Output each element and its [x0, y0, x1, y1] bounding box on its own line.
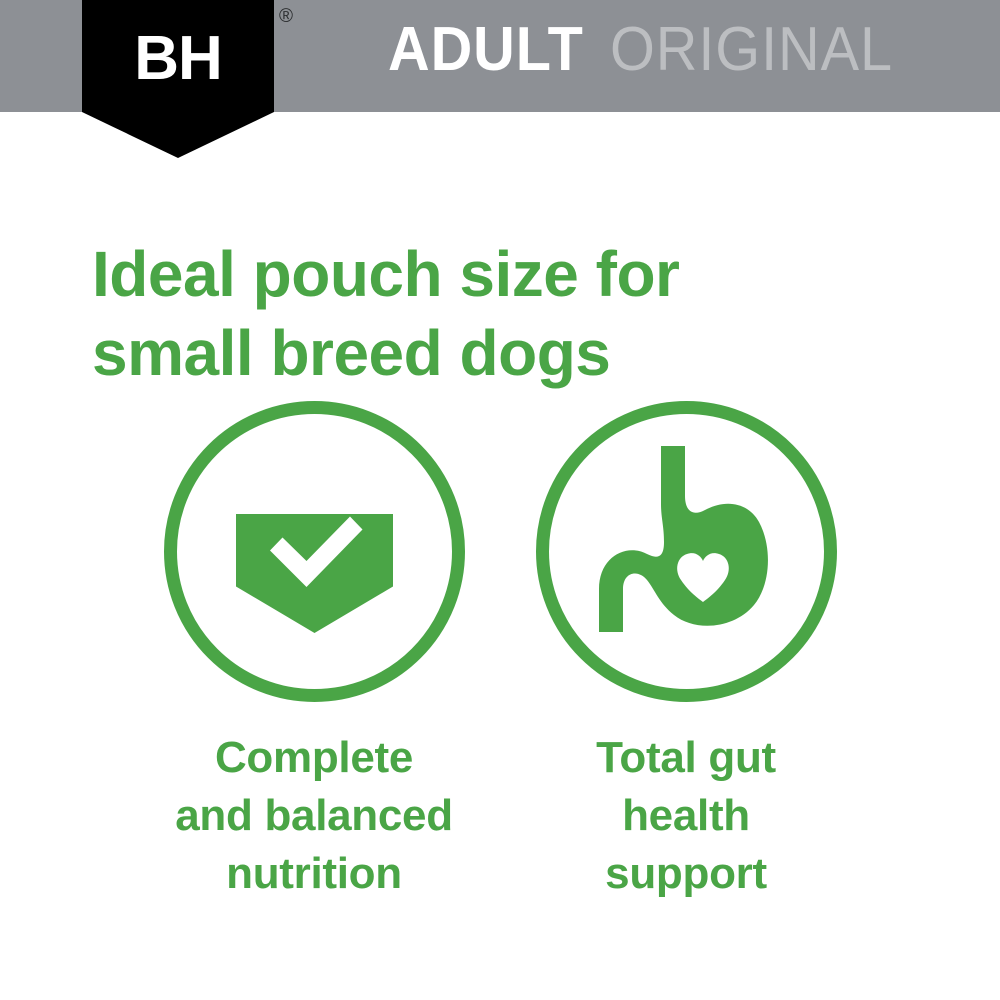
stomach-heart-badge [535, 400, 838, 703]
shield-check-icon [163, 400, 466, 703]
headline-line-1: Ideal pouch size for [92, 235, 912, 314]
registered-trademark-icon: ® [279, 7, 299, 27]
page-headline: Ideal pouch size for small breed dogs [92, 235, 912, 393]
feature-caption-gut-health-line-3: support [500, 845, 872, 903]
feature-caption-nutrition-line-3: nutrition [128, 845, 500, 903]
brand-logo-text: BH [82, 28, 274, 90]
shield-check-badge [163, 400, 466, 703]
header-title: ADULT ORIGINAL [388, 14, 915, 86]
feature-caption-gut-health: Total gut health support [500, 729, 872, 903]
stomach-heart-icon [535, 400, 838, 703]
feature-caption-nutrition: Complete and balanced nutrition [128, 729, 500, 903]
feature-caption-gut-health-line-2: health [500, 787, 872, 845]
headline-line-2: small breed dogs [92, 314, 912, 393]
feature-caption-nutrition-line-1: Complete [128, 729, 500, 787]
brand-logo-shield: BH [82, 0, 274, 158]
feature-caption-gut-health-line-1: Total gut [500, 729, 872, 787]
header-title-primary: ADULT [388, 19, 584, 81]
header-title-secondary: ORIGINAL [610, 19, 893, 81]
feature-list: Complete and balanced nutrition Total gu… [0, 400, 1000, 903]
feature-item-gut-health: Total gut health support [500, 400, 872, 903]
feature-item-nutrition: Complete and balanced nutrition [128, 400, 500, 903]
feature-caption-nutrition-line-2: and balanced [128, 787, 500, 845]
product-feature-panel: BH ® ADULT ORIGINAL Ideal pouch size for… [0, 0, 1000, 1000]
